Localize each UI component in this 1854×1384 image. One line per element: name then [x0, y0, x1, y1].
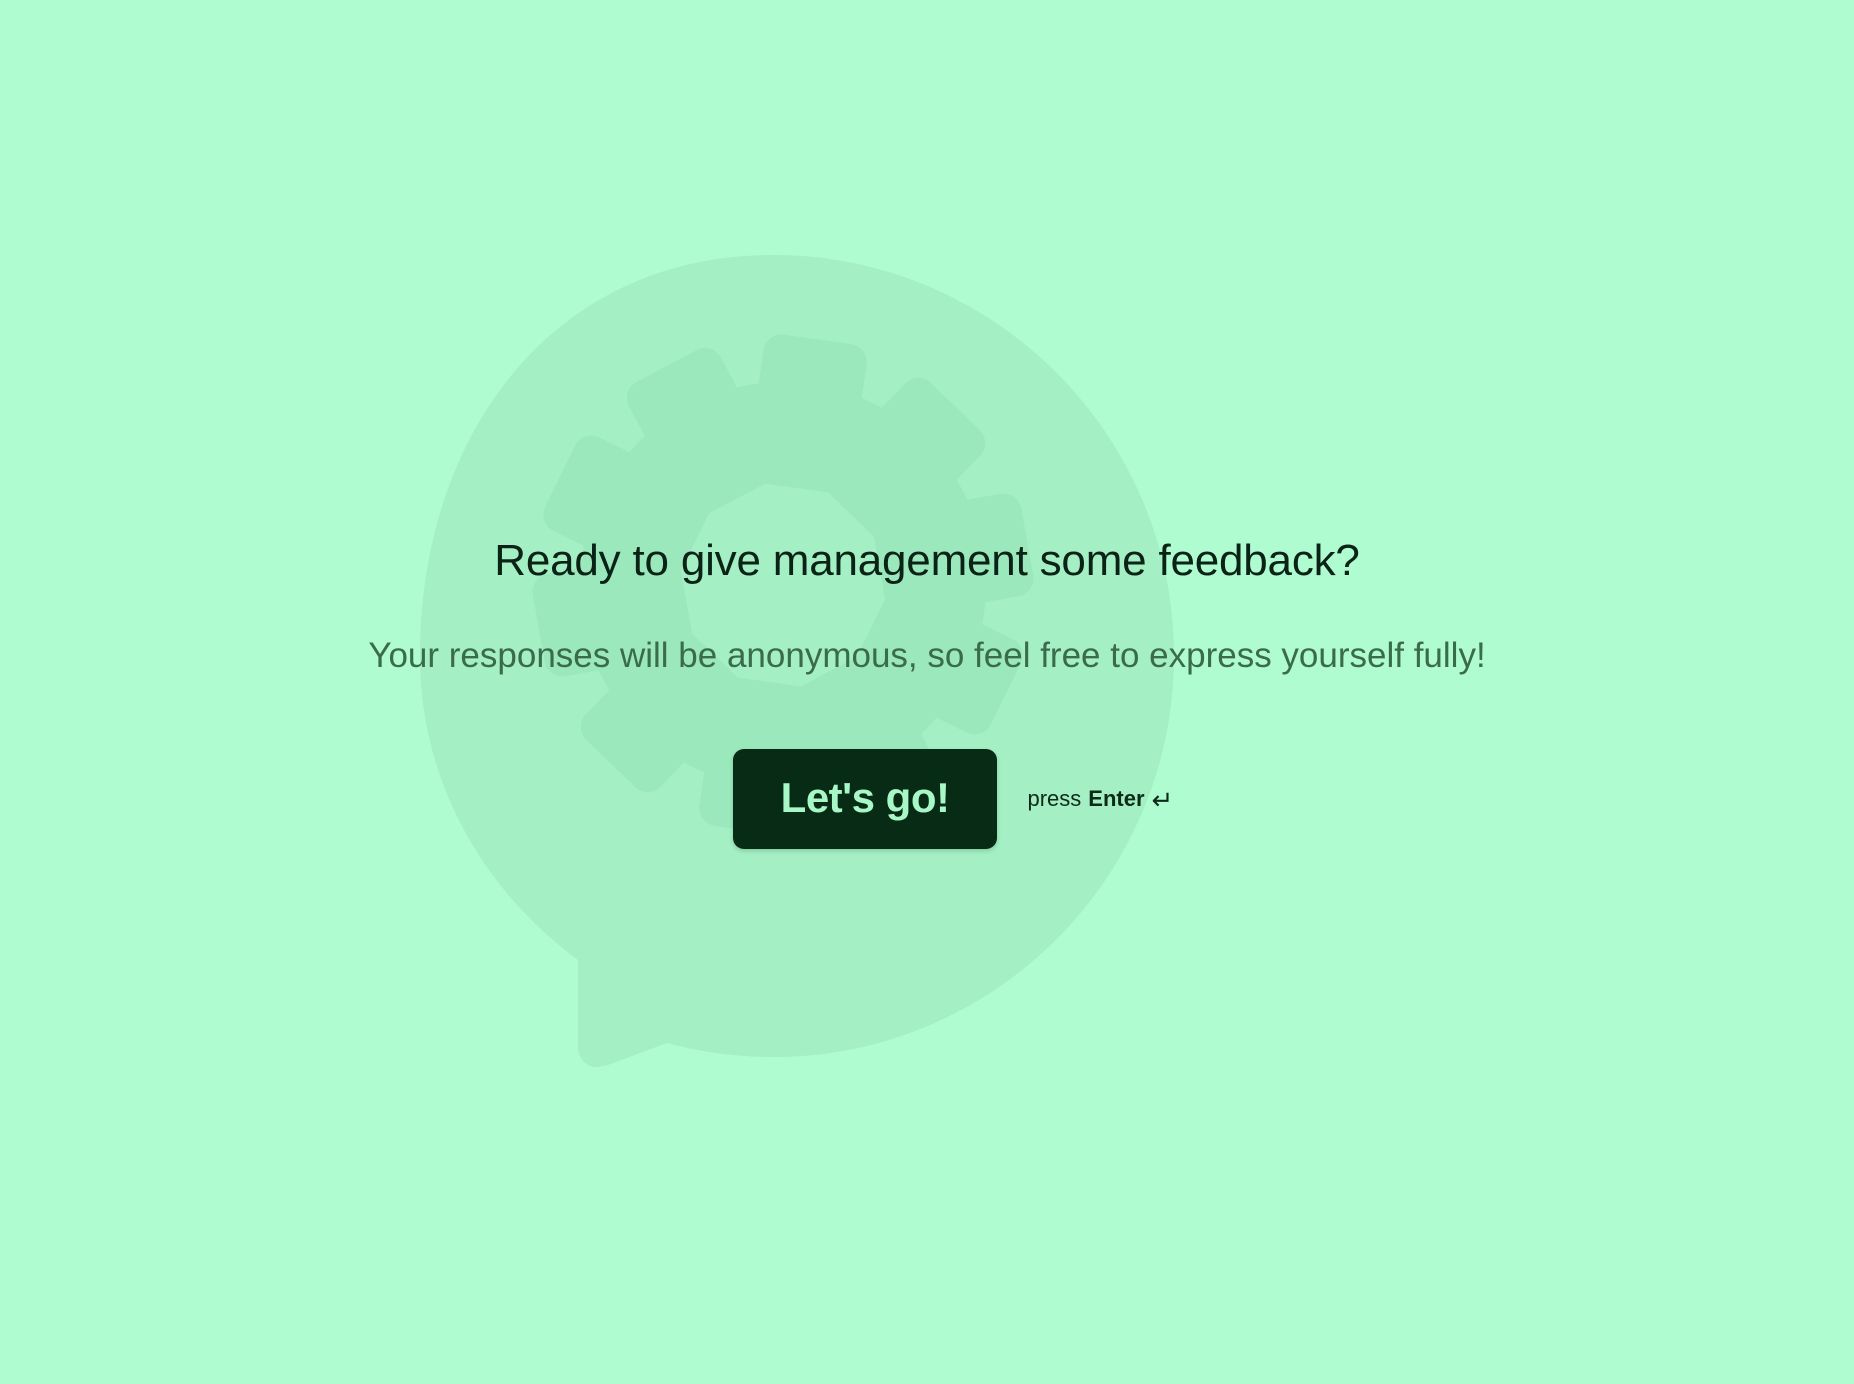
hint-prefix-label: press [1027, 786, 1081, 812]
page-subtitle: Your responses will be anonymous, so fee… [368, 634, 1485, 678]
welcome-screen: Ready to give management some feedback? … [0, 0, 1854, 1384]
welcome-content: Ready to give management some feedback? … [0, 0, 1854, 1384]
enter-arrow-icon: ↵ [1152, 787, 1174, 813]
lets-go-button[interactable]: Let's go! [733, 749, 998, 849]
page-title: Ready to give management some feedback? [494, 535, 1359, 588]
cta-row: Let's go! press Enter ↵ [733, 749, 1174, 849]
press-enter-hint: press Enter ↵ [1027, 786, 1173, 812]
hint-enter-key-label: Enter [1088, 786, 1144, 812]
